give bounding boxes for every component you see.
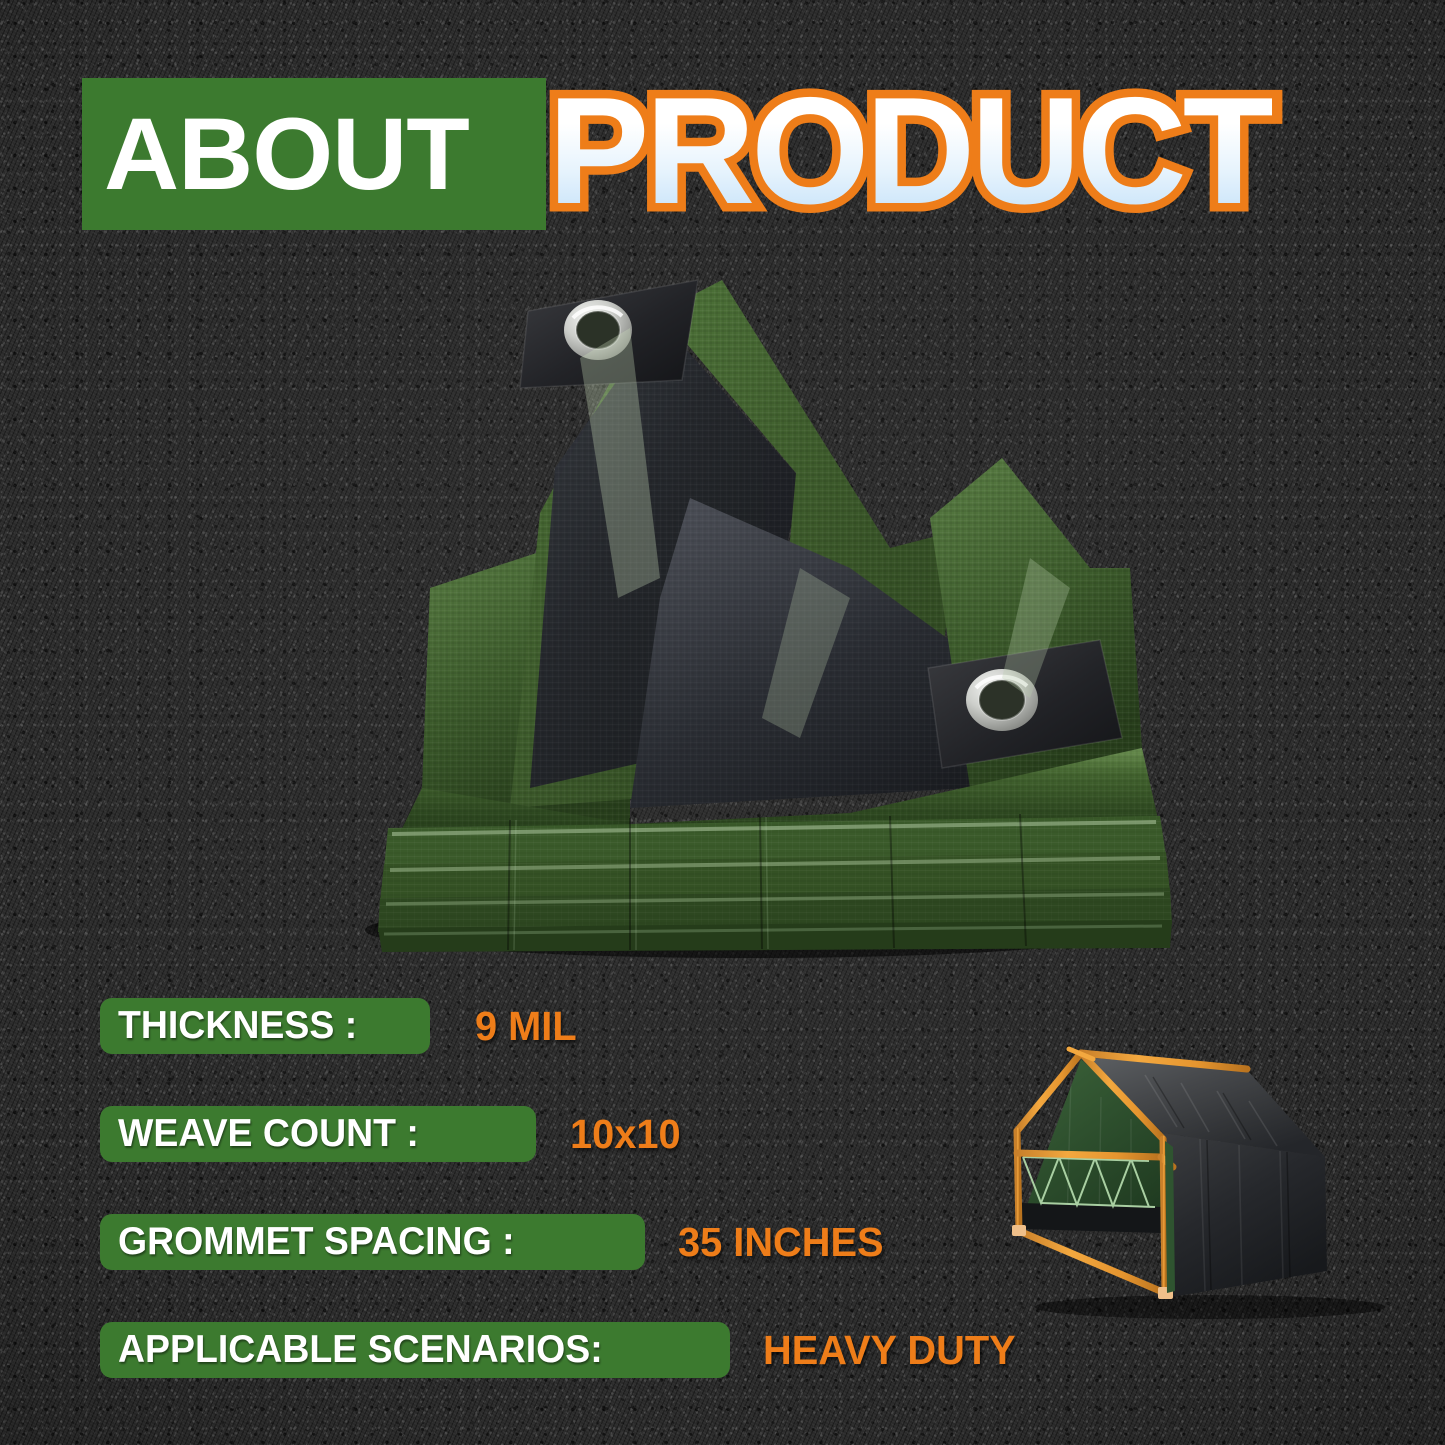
scenario-photo-tarp-shelter (995, 1035, 1415, 1320)
spec-value-grommet-spacing: 35 INCHES (678, 1214, 884, 1270)
header-product-text: PRODUCT (548, 66, 1272, 236)
infographic-page: ABOUT PRODUCT PRODUCT (0, 0, 1445, 1445)
spec-label-thickness: THICKNESS : (118, 998, 357, 1054)
header: ABOUT PRODUCT PRODUCT (0, 0, 1445, 270)
spec-label-applicable-scenarios: APPLICABLE SCENARIOS: (118, 1322, 603, 1378)
spec-label-weave-count: WEAVE COUNT : (118, 1106, 419, 1162)
spec-value-applicable-scenarios: HEAVY DUTY (763, 1322, 1016, 1378)
spec-value-weave-count: 10x10 (570, 1106, 681, 1162)
spec-label-grommet-spacing: GROMMET SPACING : (118, 1214, 515, 1270)
header-about-text: ABOUT (104, 84, 543, 224)
tarp-illustration (330, 268, 1180, 958)
product-photo-folded-tarp (330, 268, 1180, 958)
tent-illustration (995, 1035, 1415, 1320)
spec-value-thickness: 9 MIL (475, 998, 577, 1054)
